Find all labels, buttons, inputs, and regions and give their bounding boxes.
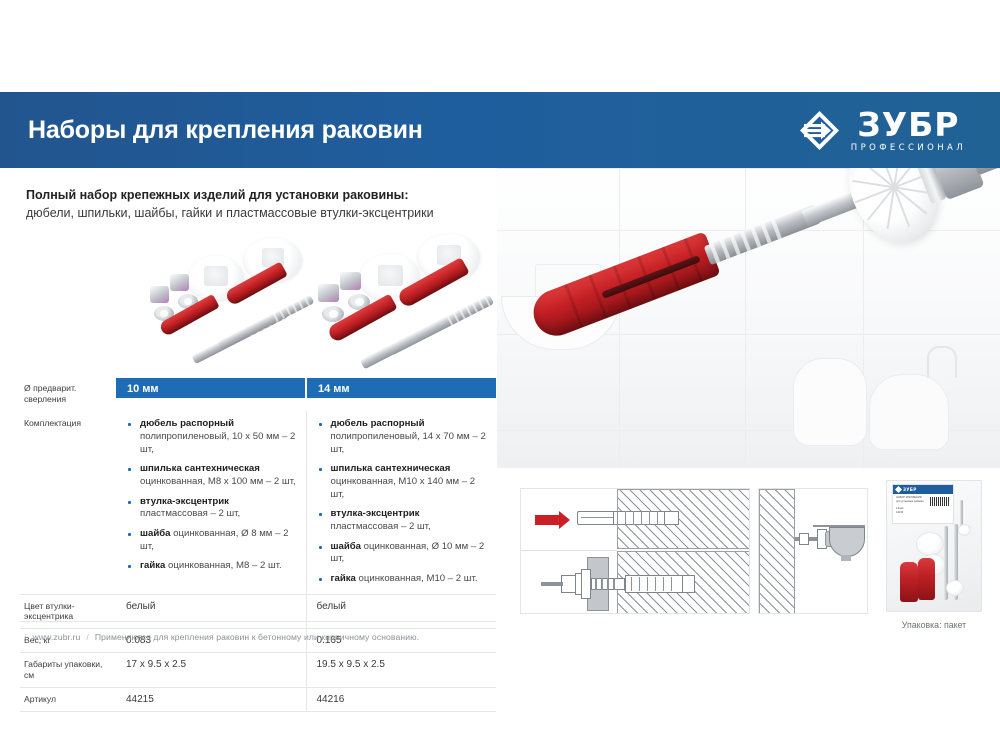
footer: / www.zubr.ru / Применяются для креплени…: [24, 632, 419, 642]
list-item: дюбель распорныйполипропиленовый, 14 x 7…: [317, 418, 489, 456]
background-toilet: [793, 358, 867, 446]
article-10mm: 44215: [116, 688, 306, 711]
list-item: втулка-эксцентрикпластмассовая – 2 шт,: [126, 496, 298, 521]
list-item: гайка оцинкованная, M8 – 2 шт.: [126, 560, 298, 573]
red-dowel: [527, 231, 721, 342]
list-item: шпилька сантехническаяоцинкованная, M8 x…: [126, 463, 298, 488]
brand-tagline: ПРОФЕССИОНАЛ: [851, 144, 966, 153]
table-header-row: Ø предварит. сверления 10 мм 14 мм: [20, 378, 496, 410]
list-item: дюбель распорныйполипропиленовый, 10 x 5…: [126, 418, 298, 456]
package-label-article: 44216: [896, 511, 950, 515]
brand-wordmark: ЗУБР ПРОФЕССИОНАЛ: [851, 108, 966, 153]
row-label-kit: Комплектация: [20, 410, 116, 593]
kit-contents-14mm: дюбель распорныйполипропиленовый, 14 x 7…: [306, 410, 497, 593]
intro-block: Полный набор крепежных изделий для устан…: [26, 186, 546, 222]
column-header-10mm: 10 мм: [116, 378, 305, 398]
package-label-header: ЗУБР: [893, 485, 953, 494]
intro-headline: Полный набор крепежных изделий для устан…: [26, 186, 546, 204]
package-caption: Упаковка: пакет: [860, 620, 1000, 630]
package-label: ЗУБР НАБОР КРЕПЛЕНИЯ для установки раков…: [892, 484, 954, 524]
row-label-bushing-color: Цвет втулки-эксцентрика: [20, 595, 116, 628]
list-item: шайба оцинкованная, Ø 8 мм – 2 шт,: [126, 528, 298, 553]
installation-diagrams: [520, 488, 868, 614]
article-14mm: 44216: [306, 688, 497, 711]
background-faucet: [927, 346, 957, 378]
bushing-color-14mm: белый: [306, 595, 497, 628]
zubr-diamond-arrow-icon: [797, 108, 842, 153]
drill-diameter-label: Ø предварит. сверления: [20, 378, 116, 410]
footer-website-url[interactable]: www.zubr.ru: [33, 632, 81, 642]
table-row-bushing-color: Цвет втулки-эксцентрика белый белый: [20, 595, 496, 629]
table-row-kit-contents: Комплектация дюбель распорныйполипропиле…: [20, 410, 496, 594]
table-row-article: Артикул 44215 44216: [20, 688, 496, 712]
list-item: втулка-эксцентрикпластмассовая – 2 шт,: [317, 508, 489, 533]
brand-logo: ЗУБР ПРОФЕССИОНАЛ: [797, 108, 972, 153]
column-header-14mm: 14 мм: [307, 378, 496, 398]
sink-mounting-diagram: [758, 488, 868, 614]
brand-name: ЗУБР: [857, 108, 959, 141]
footer-note: Применяются для крепления раковин к бето…: [95, 632, 419, 642]
list-item: гайка оцинкованная, M10 – 2 шт.: [317, 573, 489, 586]
barcode-icon: [930, 497, 950, 506]
product-datasheet-page: Наборы для крепления раковин ЗУБР ПРОФЕС…: [0, 0, 1000, 750]
kit-contents-10mm: дюбель распорныйполипропиленовый, 10 x 5…: [116, 410, 306, 593]
insertion-arrow-icon: [535, 511, 570, 529]
table-row-dimensions: Габариты упаковки, см 17 x 9.5 x 2.5 19.…: [20, 653, 496, 687]
package-photo: ЗУБР НАБОР КРЕПЛЕНИЯ для установки раков…: [886, 480, 982, 612]
kit-photo-10mm: [132, 228, 322, 373]
intro-description: дюбели, шпильки, шайбы, гайки и пластмас…: [26, 204, 546, 222]
package-brand: ЗУБР: [903, 487, 917, 492]
anchor-assembly-hero-photo: [497, 168, 1000, 468]
footer-slash-1: /: [24, 632, 27, 642]
dowel-installation-diagram: [520, 488, 750, 614]
list-item: шайба оцинкованная, Ø 10 мм – 2 шт,: [317, 541, 489, 566]
table-bottom-divider: [20, 621, 496, 622]
list-item: шпилька сантехническаяоцинкованная, M10 …: [317, 463, 489, 501]
dimensions-14mm: 19.5 x 9.5 x 2.5: [306, 653, 497, 686]
row-label-dimensions: Габариты упаковки, см: [20, 653, 116, 686]
page-title: Наборы для крепления раковин: [28, 116, 423, 145]
footer-slash-2: /: [86, 632, 89, 642]
dimensions-10mm: 17 x 9.5 x 2.5: [116, 653, 306, 686]
background-bidet: [869, 374, 949, 450]
kit-photo-14mm: [302, 228, 492, 373]
page-banner: Наборы для крепления раковин ЗУБР ПРОФЕС…: [0, 92, 1000, 168]
zubr-diamond-icon: [895, 486, 902, 493]
bushing-color-10mm: белый: [116, 595, 306, 628]
row-label-article: Артикул: [20, 688, 116, 711]
specifications-table: Ø предварит. сверления 10 мм 14 мм Компл…: [20, 378, 496, 712]
